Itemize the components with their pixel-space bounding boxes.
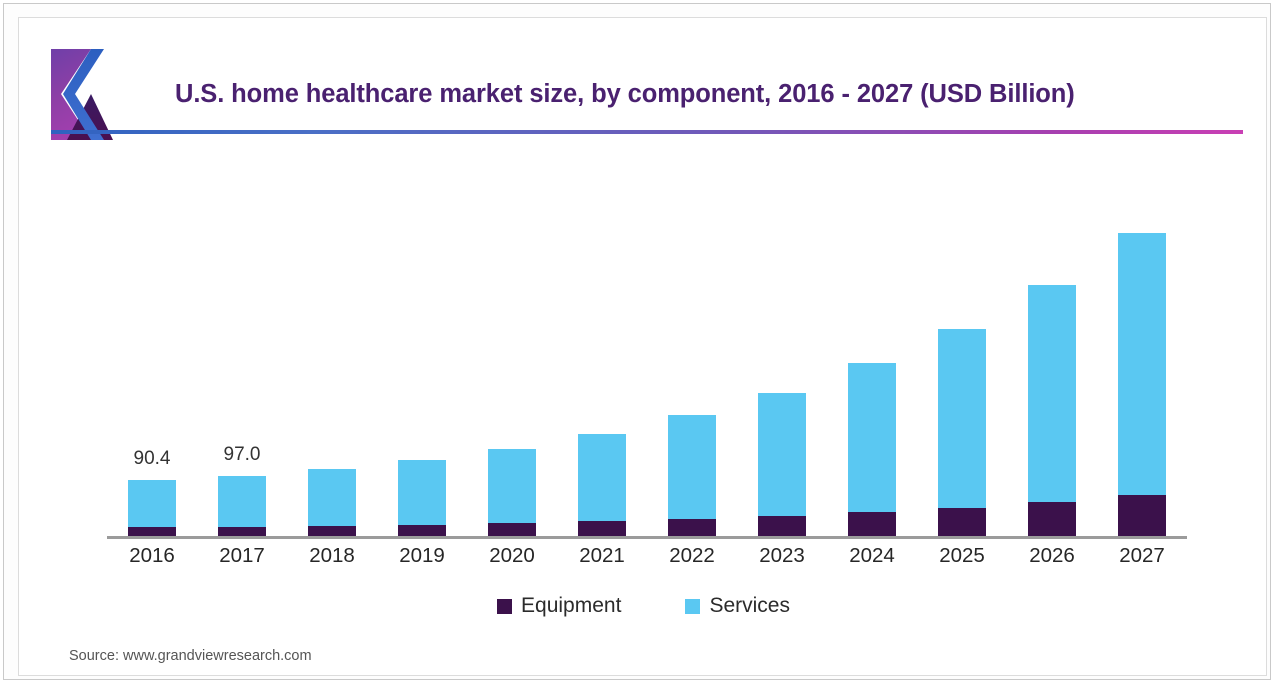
- x-axis-tick-label: 2020: [467, 544, 557, 568]
- plot-area: 90.497.0 2016201720182019202020212022202…: [19, 132, 1267, 676]
- x-axis-tick-label: 2026: [1007, 544, 1097, 568]
- bar-segment-equipment[interactable]: [398, 525, 446, 536]
- bar-column[interactable]: 97.0: [197, 152, 287, 536]
- bar-segment-services[interactable]: [848, 363, 896, 512]
- bar-segment-equipment[interactable]: [1028, 502, 1076, 536]
- bar-value-label: 90.4: [134, 448, 171, 470]
- bar-column[interactable]: [737, 152, 827, 536]
- x-axis-tick-label: 2021: [557, 544, 647, 568]
- x-axis-tick-label: 2027: [1097, 544, 1187, 568]
- bar-segment-equipment[interactable]: [1118, 495, 1166, 536]
- bar-segment-services[interactable]: [308, 469, 356, 526]
- bar-column[interactable]: [827, 152, 917, 536]
- stacked-bar[interactable]: [758, 393, 806, 536]
- bar-column[interactable]: [917, 152, 1007, 536]
- bar-segment-services[interactable]: [1118, 233, 1166, 496]
- bar-segment-equipment[interactable]: [488, 523, 536, 536]
- bar-segment-equipment[interactable]: [758, 516, 806, 536]
- bar-column[interactable]: [377, 152, 467, 536]
- bar-column[interactable]: [287, 152, 377, 536]
- bar-column[interactable]: [557, 152, 647, 536]
- x-axis-line: [107, 536, 1187, 539]
- chart-page: U.S. home healthcare market size, by com…: [0, 0, 1280, 689]
- x-axis-tick-label: 2024: [827, 544, 917, 568]
- bar-segment-services[interactable]: [578, 434, 626, 521]
- x-axis-tick-label: 2018: [287, 544, 377, 568]
- x-axis-tick-label: 2016: [107, 544, 197, 568]
- stacked-bar[interactable]: [848, 363, 896, 536]
- bar-segment-services[interactable]: [938, 329, 986, 508]
- bar-segment-equipment[interactable]: [578, 521, 626, 536]
- legend-label: Services: [709, 594, 790, 618]
- x-axis-tick-label: 2017: [197, 544, 287, 568]
- stacked-bar[interactable]: [938, 329, 986, 536]
- bar-segment-services[interactable]: [398, 460, 446, 524]
- bar-segment-equipment[interactable]: [308, 526, 356, 536]
- bar-series-group: 90.497.0: [107, 152, 1187, 536]
- bar-segment-equipment[interactable]: [668, 519, 716, 536]
- chart-header: U.S. home healthcare market size, by com…: [19, 18, 1266, 132]
- x-axis-tick-label: 2023: [737, 544, 827, 568]
- grand-view-research-k-logo-icon: [51, 49, 113, 140]
- x-axis-tick-label: 2019: [377, 544, 467, 568]
- bar-segment-equipment[interactable]: [938, 508, 986, 536]
- bar-column[interactable]: [1097, 152, 1187, 536]
- source-caption: Source: www.grandviewresearch.com: [69, 648, 312, 664]
- bar-value-label: 97.0: [224, 444, 261, 466]
- stacked-bar[interactable]: [578, 434, 626, 536]
- bar-segment-services[interactable]: [218, 476, 266, 527]
- bar-segment-equipment[interactable]: [848, 512, 896, 536]
- bar-column[interactable]: 90.4: [107, 152, 197, 536]
- bar-segment-equipment[interactable]: [128, 527, 176, 536]
- stacked-bar[interactable]: [1118, 233, 1166, 536]
- stacked-bar[interactable]: [308, 469, 356, 536]
- stacked-bar[interactable]: [668, 415, 716, 536]
- bar-segment-services[interactable]: [1028, 285, 1076, 502]
- legend-swatch-icon: [685, 599, 700, 614]
- bar-segment-services[interactable]: [128, 480, 176, 527]
- bar-segment-services[interactable]: [488, 449, 536, 523]
- chart-legend: EquipmentServices: [19, 594, 1267, 618]
- bar-segment-services[interactable]: [758, 393, 806, 516]
- page-title: U.S. home healthcare market size, by com…: [175, 80, 1075, 109]
- x-axis-tick-label: 2025: [917, 544, 1007, 568]
- stacked-bar[interactable]: [1028, 285, 1076, 536]
- inner-frame: U.S. home healthcare market size, by com…: [18, 17, 1267, 676]
- legend-label: Equipment: [521, 594, 621, 618]
- stacked-bar[interactable]: [128, 480, 176, 536]
- outer-frame: U.S. home healthcare market size, by com…: [3, 3, 1271, 680]
- x-axis-tick-label: 2022: [647, 544, 737, 568]
- bar-segment-equipment[interactable]: [218, 527, 266, 536]
- stacked-bar[interactable]: [488, 449, 536, 536]
- legend-swatch-icon: [497, 599, 512, 614]
- x-axis-tick-labels: 2016201720182019202020212022202320242025…: [107, 544, 1187, 568]
- stacked-bar[interactable]: [398, 460, 446, 536]
- bar-segment-services[interactable]: [668, 415, 716, 519]
- stacked-bar[interactable]: [218, 476, 266, 536]
- bar-column[interactable]: [1007, 152, 1097, 536]
- bar-column[interactable]: [647, 152, 737, 536]
- bar-column[interactable]: [467, 152, 557, 536]
- legend-item-services[interactable]: Services: [685, 594, 790, 618]
- legend-item-equipment[interactable]: Equipment: [497, 594, 621, 618]
